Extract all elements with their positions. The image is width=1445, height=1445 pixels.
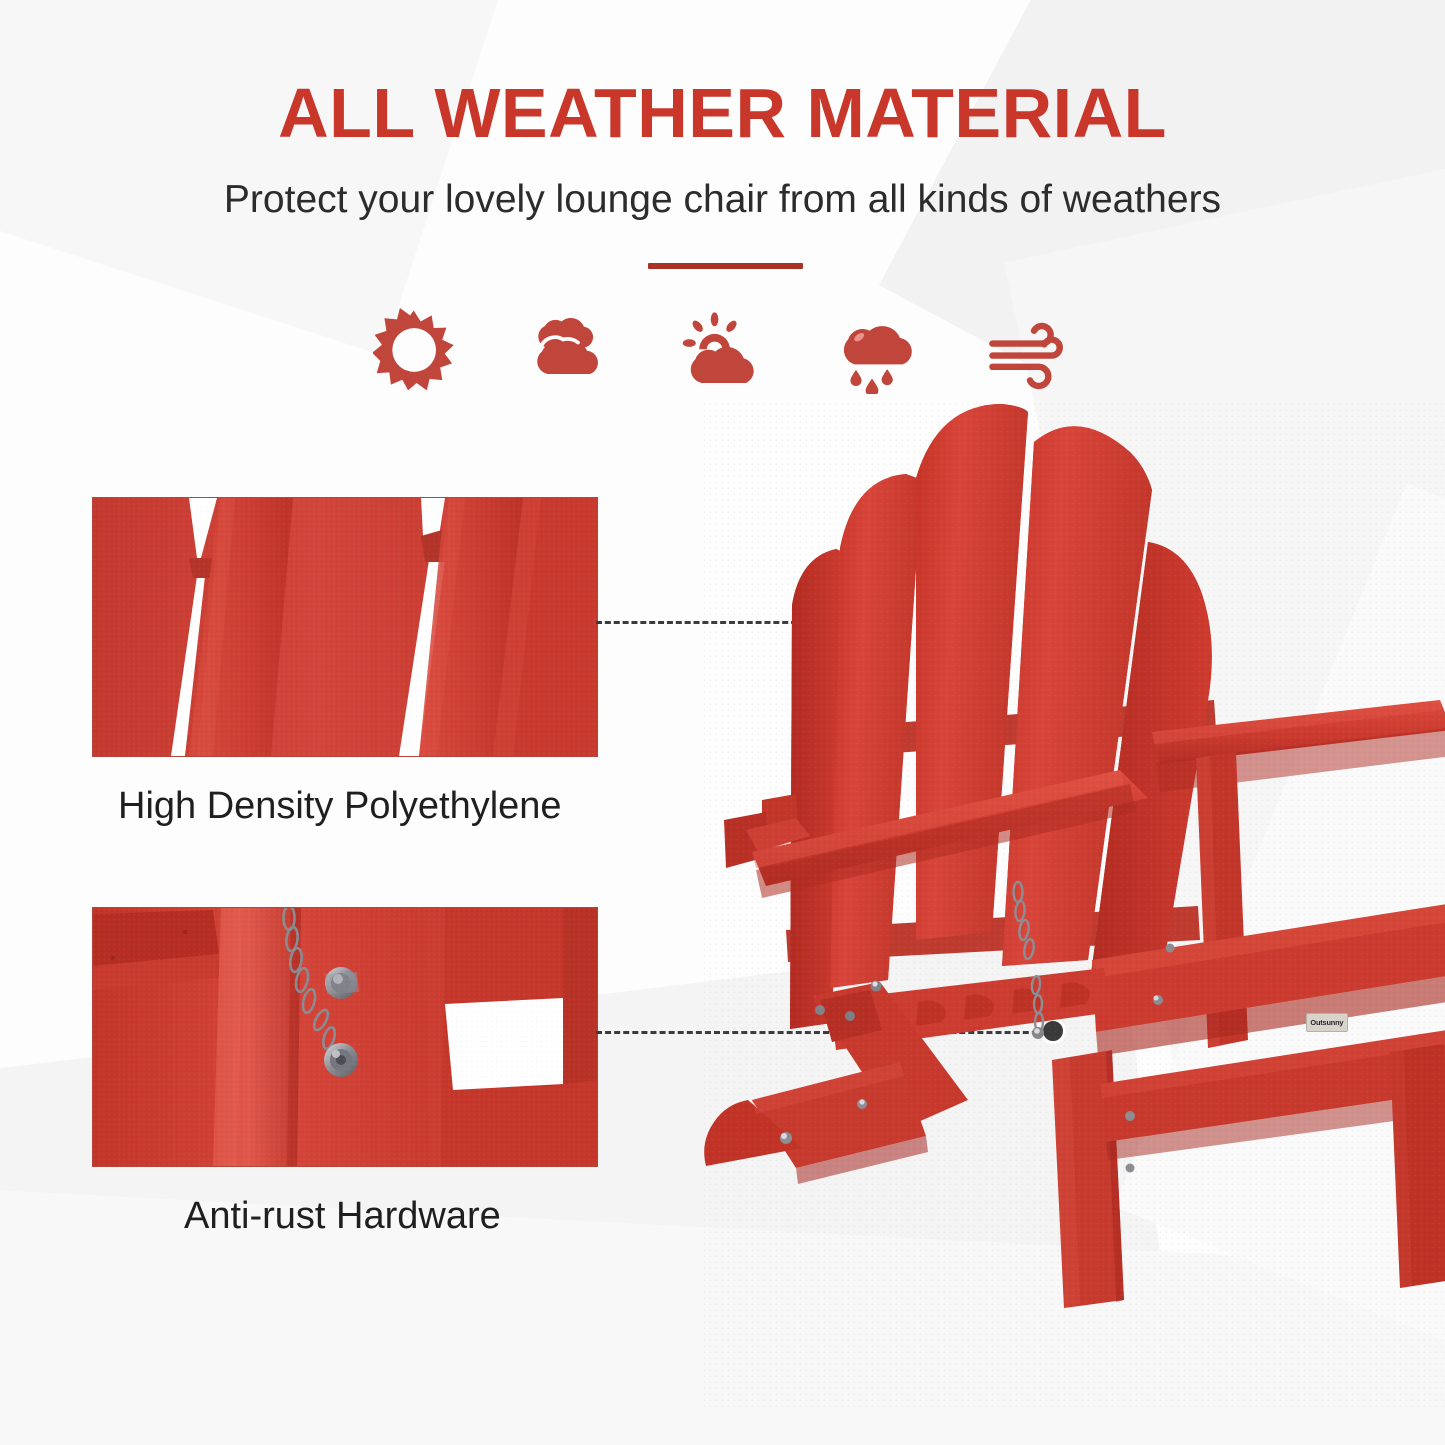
page-title: ALL WEATHER MATERIAL bbox=[0, 0, 1445, 148]
cloudy-icon bbox=[514, 300, 624, 400]
title-divider bbox=[648, 263, 803, 269]
rain-cloud-icon bbox=[821, 300, 931, 400]
infographic-canvas: ALL WEATHER MATERIAL Protect your lovely… bbox=[0, 0, 1445, 1445]
product-image-adirondack-chair bbox=[700, 400, 1445, 1410]
header-block: ALL WEATHER MATERIAL Protect your lovely… bbox=[0, 0, 1445, 219]
brand-badge-label: Outsunny bbox=[1311, 1018, 1344, 1026]
panel-caption-hardware: Anti-rust Hardware bbox=[184, 1195, 501, 1238]
sun-icon bbox=[360, 300, 470, 400]
partly-cloudy-icon bbox=[668, 300, 778, 400]
wind-icon bbox=[975, 300, 1085, 400]
page-subtitle: Protect your lovely lounge chair from al… bbox=[0, 148, 1445, 219]
detail-panel-hardware bbox=[92, 907, 598, 1167]
weather-icon-row bbox=[360, 300, 1085, 400]
brand-badge: Outsunny bbox=[1306, 1013, 1348, 1032]
panel-caption-polyethylene: High Density Polyethylene bbox=[118, 785, 562, 828]
detail-panel-polyethylene bbox=[92, 497, 598, 757]
